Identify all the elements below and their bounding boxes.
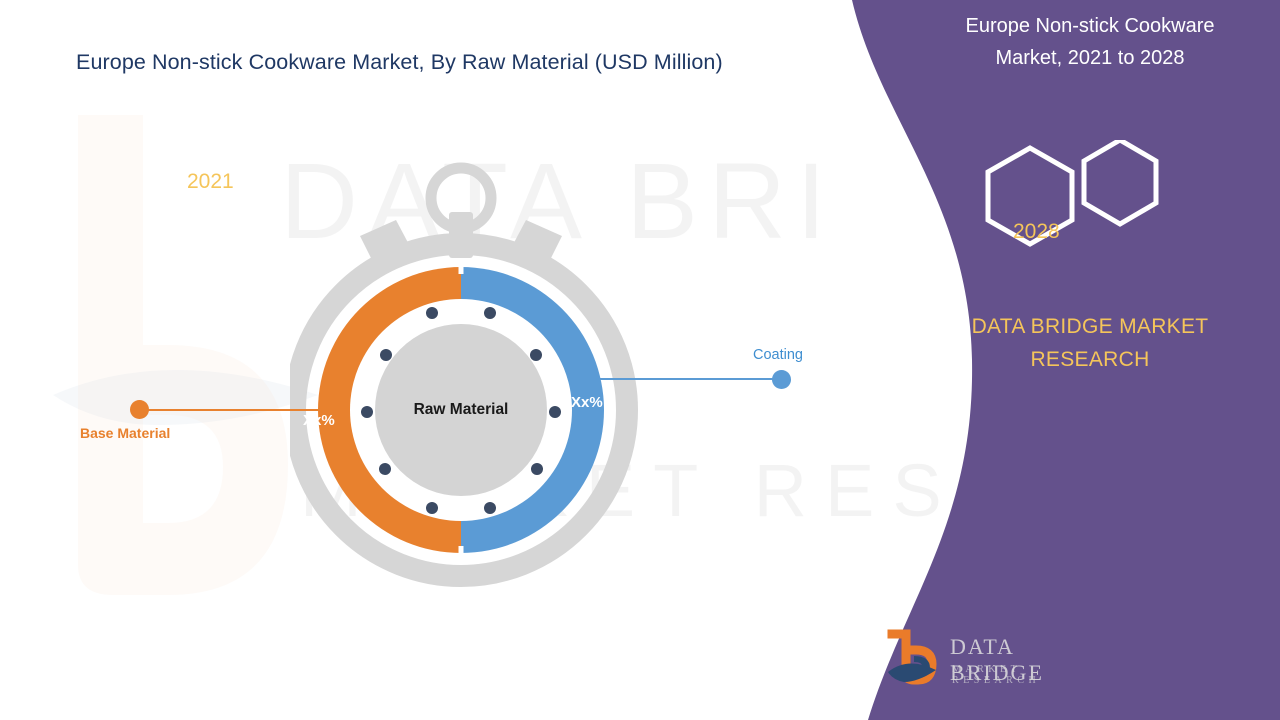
callout-line-base-material: [148, 409, 320, 411]
hexagon-label-2028: 2028: [1013, 220, 1060, 244]
stopwatch-donut-chart: [290, 150, 640, 610]
infographic-canvas: DATA BRI MARKET RESEARCH Europe Non-stic…: [0, 0, 1280, 720]
brand-name-line-2: RESEARCH: [920, 343, 1260, 376]
callout-label-coating: Coating: [753, 347, 803, 363]
donut-center-label: Raw Material: [381, 401, 541, 419]
callout-line-coating: [600, 378, 780, 380]
hexagon-2021-icon: [1084, 140, 1156, 224]
callout-dot-base-material[interactable]: [130, 400, 149, 419]
callout-label-base-material: Base Material: [80, 425, 170, 441]
donut-value-left: Xx%: [303, 412, 335, 429]
logo-mark-icon: [884, 628, 946, 690]
donut-value-right: Xx%: [571, 394, 603, 411]
panel-title-line-1: Europe Non-stick Cookware: [910, 10, 1270, 42]
hexagon-badges: [980, 140, 1200, 285]
brand-name-line-1: DATA BRIDGE MARKET: [920, 310, 1260, 343]
chart-title: Europe Non-stick Cookware Market, By Raw…: [76, 50, 723, 75]
hexagon-label-2021: 2021: [187, 170, 234, 194]
brand-name: DATA BRIDGE MARKET RESEARCH: [920, 310, 1260, 376]
callout-dot-coating[interactable]: [772, 370, 791, 389]
panel-title-line-2: Market, 2021 to 2028: [910, 42, 1270, 74]
logo-text-secondary: MARKET RESEARCH: [952, 664, 1114, 686]
panel-content: Europe Non-stick Cookware Market, 2021 t…: [900, 0, 1280, 720]
company-logo: DATA BRIDGE MARKET RESEARCH: [884, 628, 1114, 698]
panel-title: Europe Non-stick Cookware Market, 2021 t…: [910, 10, 1270, 74]
